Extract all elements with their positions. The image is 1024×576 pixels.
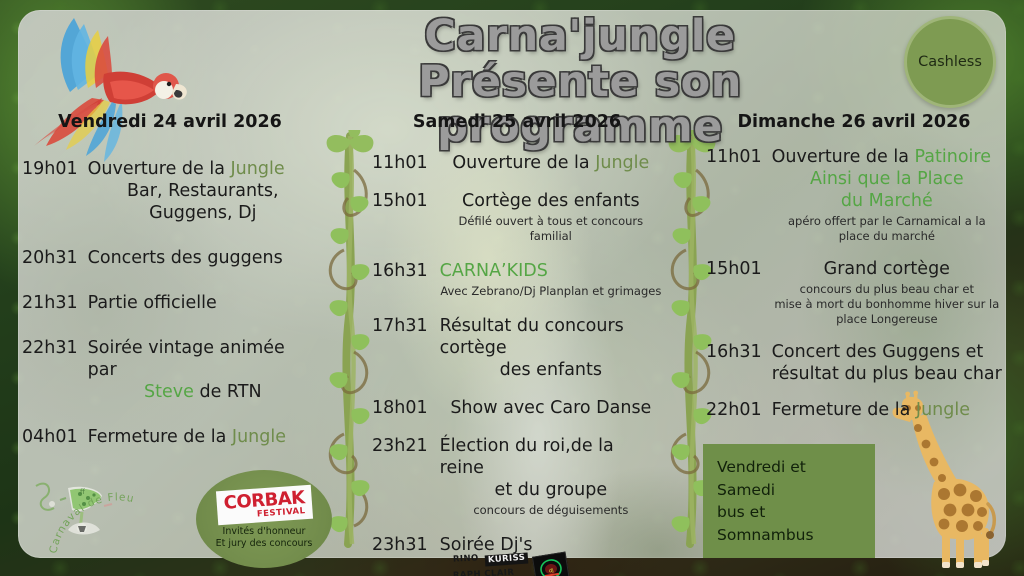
- dj-row: RINO KURISS: [450, 554, 529, 565]
- event-row: 20h31 Concerts des guggens: [22, 247, 318, 269]
- event-note: concours de déguisements: [440, 503, 662, 518]
- event-line: Élection du roi,de la reine: [440, 435, 662, 479]
- event-line: du Marché: [772, 190, 1002, 212]
- event-row: 04h01 Fermeture de la Jungle: [22, 426, 318, 448]
- event-time: 18h01: [372, 397, 428, 418]
- event-description: CARNA’KIDS Avec Zebrano/Dj Planplan et g…: [428, 260, 662, 299]
- jungle-keyword: Jungle: [916, 400, 970, 420]
- jungle-keyword: Jungle: [232, 427, 286, 447]
- dj-name-stack: RINO KURISS RAPH CLAIR: [450, 554, 529, 576]
- carnakids-title: CARNA’KIDS: [440, 260, 662, 282]
- event-row: 23h21 Élection du roi,de la reine et du …: [372, 435, 662, 518]
- event-description: Concerts des guggens: [78, 247, 318, 269]
- event-time: 15h01: [372, 190, 428, 211]
- event-time: 22h31: [22, 337, 78, 358]
- event-line: Fermeture de la Jungle: [88, 426, 318, 448]
- event-time: 16h31: [706, 341, 762, 362]
- event-time: 20h31: [22, 247, 78, 268]
- dj-logo-rino: RINO: [449, 553, 481, 566]
- event-line: Show avec Caro Danse: [440, 397, 662, 419]
- event-description: Concert des Guggens et résultat du plus …: [762, 341, 1002, 385]
- event-description: Résultat du concours cortège des enfants: [428, 315, 662, 381]
- event-line: Ouverture de la Jungle: [440, 152, 662, 174]
- event-time: 19h01: [22, 158, 78, 179]
- event-description: Ouverture de la Jungle: [428, 152, 662, 174]
- dj-neon-logo-icon: dj: [531, 552, 569, 576]
- event-time: 16h31: [372, 260, 428, 281]
- program-column-sunday: Dimanche 26 avril 2026 11h01 Ouverture d…: [706, 112, 1002, 435]
- event-line: Ainsi que la Place: [772, 168, 1002, 190]
- event-time: 21h31: [22, 292, 78, 313]
- event-line: résultat du plus beau char: [772, 363, 1002, 385]
- event-row: 16h31 CARNA’KIDS Avec Zebrano/Dj Planpla…: [372, 260, 662, 299]
- event-time: 15h01: [706, 258, 762, 279]
- event-line: Soirée vintage animée par: [88, 337, 318, 381]
- event-row: 19h01 Ouverture de la Jungle Bar, Restau…: [22, 158, 318, 224]
- event-line: Steve de RTN: [88, 381, 318, 403]
- event-line: Partie officielle: [88, 292, 318, 314]
- event-row: 11h01 Ouverture de la Patinoire Ainsi qu…: [706, 146, 1002, 244]
- patinoire-keyword: Patinoire: [915, 147, 991, 167]
- event-time: 22h01: [706, 399, 762, 420]
- corbak-caption-line-1: Invités d'honneur: [223, 526, 306, 538]
- svg-text:dj: dj: [548, 568, 553, 575]
- event-row: 18h01 Show avec Caro Danse: [372, 397, 662, 419]
- event-line: Concert des Guggens et: [772, 341, 1002, 363]
- event-description: Ouverture de la Jungle Bar, Restaurants,…: [78, 158, 318, 224]
- event-line: Cortège des enfants: [440, 190, 662, 212]
- corbak-festival-logo: CORBAK FESTIVAL Invités d'honneur Et jur…: [196, 470, 332, 568]
- event-time: 23h31: [372, 534, 428, 555]
- event-line: des enfants: [440, 359, 662, 381]
- bus-info-line-1: Vendredi et Samedi: [717, 456, 861, 501]
- event-time: 23h21: [372, 435, 428, 456]
- event-line: Résultat du concours cortège: [440, 315, 662, 359]
- event-row: 17h31 Résultat du concours cortège des e…: [372, 315, 662, 381]
- event-line: Bar, Restaurants,: [88, 180, 318, 202]
- event-description: Élection du roi,de la reine et du groupe…: [428, 435, 662, 518]
- jungle-keyword: Jungle: [595, 153, 649, 173]
- event-time: 11h01: [372, 152, 428, 173]
- day-heading-sunday: Dimanche 26 avril 2026: [706, 112, 1002, 132]
- event-note: apéro offert par le Carnamical a la plac…: [772, 214, 1002, 244]
- cashless-badge: Cashless: [904, 16, 996, 108]
- dj-logo-raph-clair: RAPH CLAIR: [449, 567, 528, 576]
- corbak-caption-line-2: Et jury des concours: [216, 538, 313, 550]
- event-row: 15h01 Cortège des enfants Défilé ouvert …: [372, 190, 662, 244]
- event-line: Concerts des guggens: [88, 247, 318, 269]
- event-line: Fermeture de la Jungle: [772, 399, 1002, 421]
- event-row: 23h31 Soirée Dj's RINO KURISS RAPH CLAIR: [372, 534, 662, 576]
- event-line: Ouverture de la Patinoire: [772, 146, 1002, 168]
- steve-keyword: Steve: [144, 382, 194, 402]
- dj-logo-kuriss: KURISS: [485, 553, 529, 567]
- event-description: Cortège des enfants Défilé ouvert à tous…: [428, 190, 662, 244]
- event-time: 17h31: [372, 315, 428, 336]
- event-row: 16h31 Concert des Guggens et résultat du…: [706, 341, 1002, 385]
- event-line: Soirée Dj's RINO KURISS RAPH CLAIR: [440, 534, 662, 576]
- day-heading-saturday: Samedi 25 avril 2026: [372, 112, 662, 132]
- program-column-friday: Vendredi 24 avril 2026 19h01 Ouverture d…: [22, 112, 318, 471]
- event-description: Soirée Dj's RINO KURISS RAPH CLAIR: [428, 534, 662, 576]
- event-note: Avec Zebrano/Dj Planplan et grimages: [440, 284, 662, 299]
- event-row: 11h01 Ouverture de la Jungle: [372, 152, 662, 174]
- event-description: Show avec Caro Danse: [428, 397, 662, 419]
- event-row: 15h01 Grand cortège concours du plus bea…: [706, 258, 1002, 327]
- event-description: Partie officielle: [78, 292, 318, 314]
- dj-logos-group: RINO KURISS RAPH CLAIR dj: [450, 554, 568, 576]
- event-description: Ouverture de la Patinoire Ainsi que la P…: [762, 146, 1002, 244]
- bus-info-box: Vendredi et Samedi bus et Somnambus: [703, 444, 875, 558]
- event-line: Guggens, Dj: [88, 202, 318, 224]
- event-line: et du groupe: [440, 479, 662, 501]
- event-line: Ouverture de la Jungle: [88, 158, 318, 180]
- event-description: Soirée vintage animée par Steve de RTN: [78, 337, 318, 403]
- event-note: concours du plus beau char et mise à mor…: [772, 282, 1002, 327]
- day-heading-friday: Vendredi 24 avril 2026: [22, 112, 318, 132]
- event-description: Fermeture de la Jungle: [78, 426, 318, 448]
- program-column-saturday: Samedi 25 avril 2026 11h01 Ouverture de …: [372, 112, 662, 576]
- event-description: Grand cortège concours du plus beau char…: [762, 258, 1002, 327]
- event-time: 11h01: [706, 146, 762, 167]
- event-time: 04h01: [22, 426, 78, 447]
- jungle-keyword: Jungle: [231, 159, 285, 179]
- corbak-logo-plate: CORBAK FESTIVAL: [215, 485, 312, 526]
- event-description: Fermeture de la Jungle: [762, 399, 1002, 421]
- event-row: 22h01 Fermeture de la Jungle: [706, 399, 1002, 421]
- event-row: 22h31 Soirée vintage animée par Steve de…: [22, 337, 318, 403]
- neon-disc-icon: dj: [536, 556, 565, 576]
- event-line: Grand cortège: [772, 258, 1002, 280]
- event-row: 21h31 Partie officielle: [22, 292, 318, 314]
- bus-info-line-2: bus et Somnambus: [717, 501, 861, 546]
- event-note: Défilé ouvert à tous et concours familia…: [440, 214, 662, 244]
- poster-root: Carna'jungle Présente son programme Cash…: [0, 0, 1024, 576]
